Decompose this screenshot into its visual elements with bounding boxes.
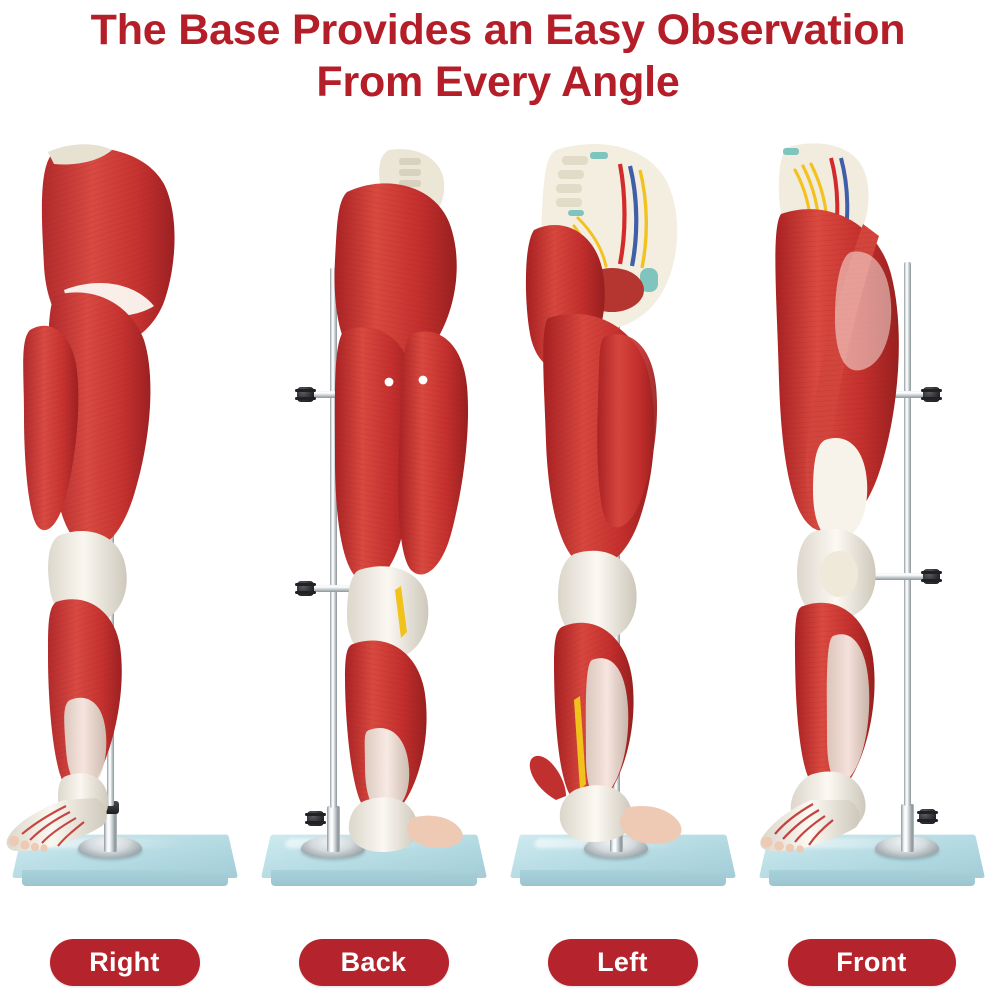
model-panel-right: [0, 140, 249, 910]
base-plate-edge: [22, 870, 228, 886]
product-image-canvas: The Base Provides an Easy Observation Fr…: [0, 0, 996, 1000]
leg-model-back: [315, 146, 485, 852]
view-badge-right[interactable]: Right: [50, 939, 200, 986]
page-title-line-2: From Every Angle: [0, 56, 996, 108]
base-plate-edge: [769, 870, 975, 886]
page-title: The Base Provides an Easy Observation Fr…: [0, 4, 996, 108]
stand-knob-mid[interactable]: [297, 581, 314, 596]
model-stage-left: [498, 140, 747, 910]
view-badge-left[interactable]: Left: [548, 939, 698, 986]
model-stage-front: [747, 140, 996, 910]
leg-model-front: [755, 140, 935, 852]
view-badge-back[interactable]: Back: [299, 939, 449, 986]
base-plate-edge: [271, 870, 477, 886]
model-panel-front: [747, 140, 996, 910]
page-title-line-1: The Base Provides an Easy Observation: [0, 4, 996, 56]
base-plate-edge: [520, 870, 726, 886]
model-stage-back: [249, 140, 498, 910]
stand-knob-upper[interactable]: [297, 387, 314, 402]
view-badge-front[interactable]: Front: [788, 939, 956, 986]
badge-cell-right: Right: [0, 934, 249, 990]
model-panel-left: [498, 140, 747, 910]
leg-model-right: [4, 140, 214, 852]
badge-cell-back: Back: [249, 934, 498, 990]
badge-cell-left: Left: [498, 934, 747, 990]
leg-model-left: [508, 140, 708, 852]
badge-cell-front: Front: [747, 934, 996, 990]
model-panel-back: [249, 140, 498, 910]
model-view-gallery: [0, 140, 996, 910]
model-stage-right: [0, 140, 249, 910]
view-label-badges: Right Back Left Front: [0, 934, 996, 990]
